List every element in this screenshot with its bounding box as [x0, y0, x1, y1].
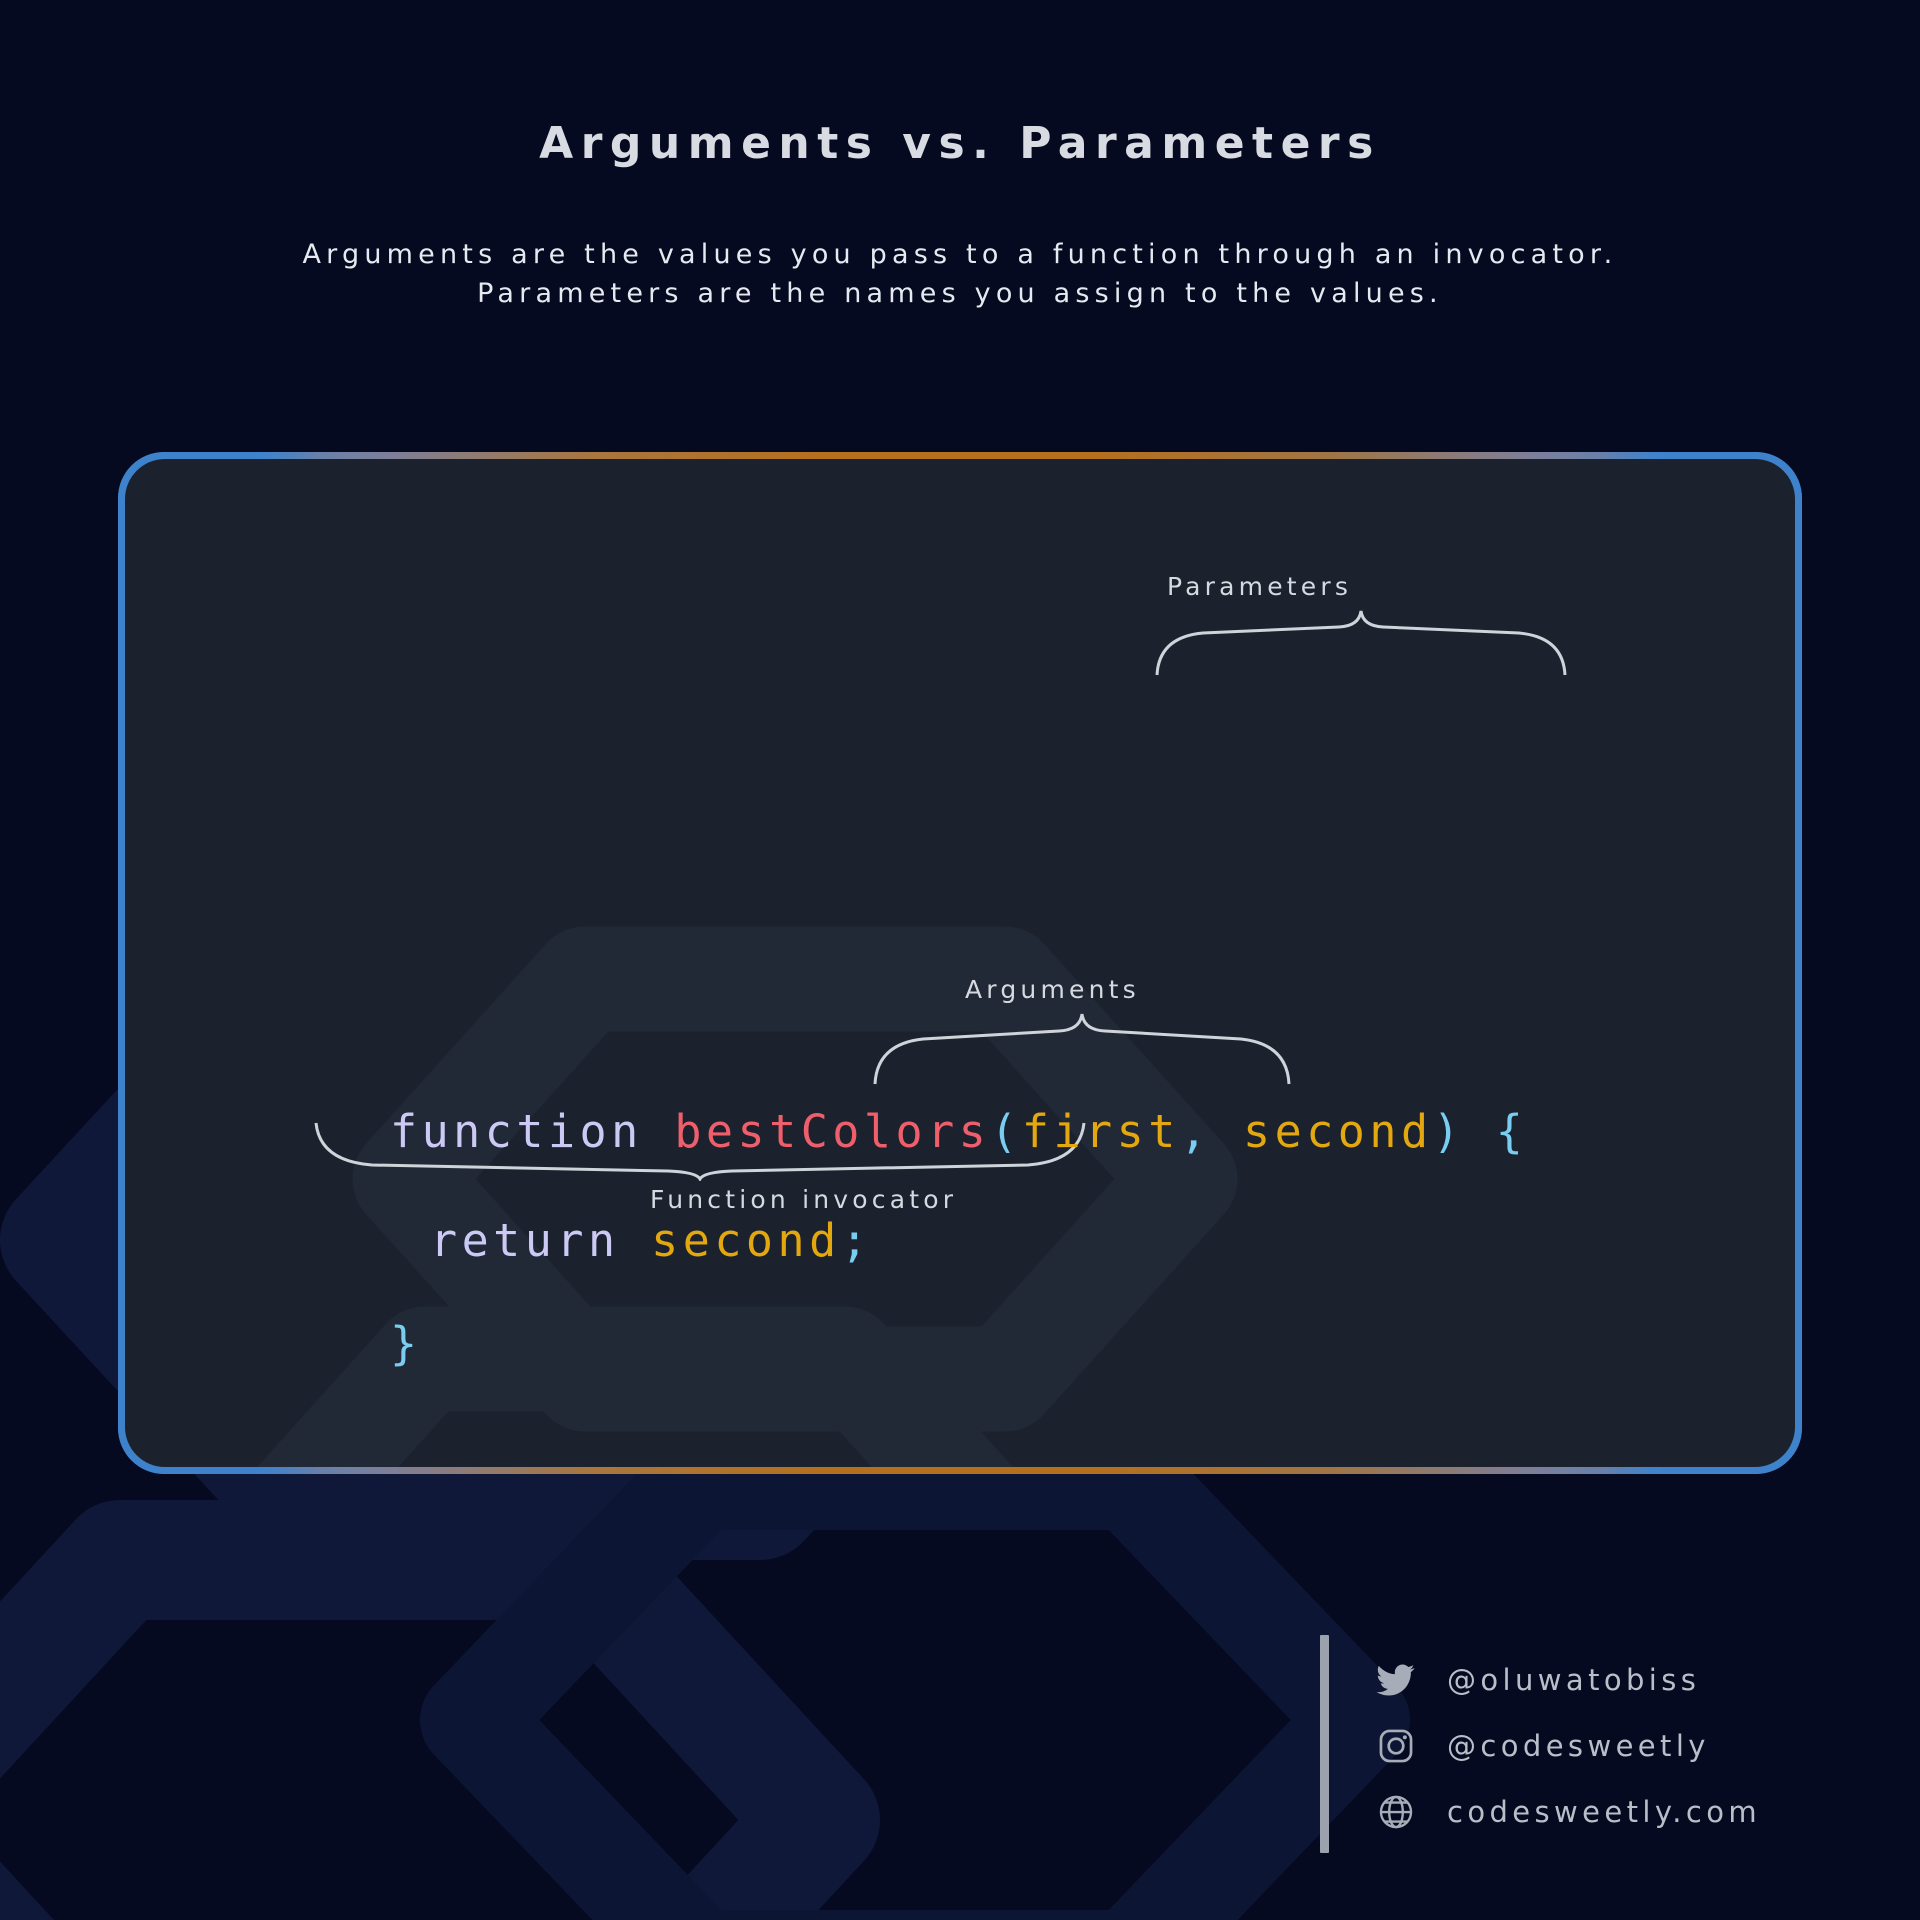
page-title: Arguments vs. Parameters — [0, 118, 1920, 171]
code-line-function-declaration: function bestColors(first, second) { — [390, 1105, 1527, 1158]
token-open-paren: ( — [990, 1105, 1022, 1158]
code-block: function bestColors(first, second) { ret… — [125, 459, 1795, 1467]
token-keyword-return: return — [430, 1214, 651, 1267]
subtitle-line-1: Arguments are the values you pass to a f… — [210, 235, 1710, 274]
code-card-body: Parameters Arguments Function invocator … — [125, 459, 1795, 1467]
footer-row-instagram[interactable]: @codesweetly — [1373, 1713, 1761, 1779]
social-footer: @oluwatobiss @codesweetly — [1320, 1635, 1761, 1853]
token-close-paren: ) — [1433, 1105, 1465, 1158]
footer-text-twitter: @oluwatobiss — [1447, 1663, 1700, 1697]
twitter-icon — [1373, 1657, 1419, 1703]
token-comma: , — [1180, 1105, 1243, 1158]
infographic-canvas: Arguments vs. Parameters Arguments are t… — [0, 0, 1920, 1920]
code-line-return: return second; — [430, 1214, 872, 1267]
token-parameter-first: first — [1022, 1105, 1180, 1158]
footer-row-twitter[interactable]: @oluwatobiss — [1373, 1647, 1761, 1713]
token-return-value: second — [651, 1214, 841, 1267]
footer-divider-bar — [1320, 1635, 1329, 1853]
code-card: Parameters Arguments Function invocator … — [118, 452, 1802, 1474]
footer-text-website: codesweetly.com — [1447, 1795, 1761, 1829]
token-keyword-function: function — [390, 1105, 674, 1158]
footer-row-website[interactable]: codesweetly.com — [1373, 1779, 1761, 1845]
token-close-brace: } — [390, 1317, 422, 1370]
token-semicolon: ; — [841, 1214, 873, 1267]
instagram-icon — [1373, 1723, 1419, 1769]
token-parameter-second: second — [1243, 1105, 1433, 1158]
token-function-name: bestColors — [674, 1105, 990, 1158]
code-line-close-brace: } — [390, 1317, 422, 1370]
globe-icon — [1373, 1789, 1419, 1835]
token-open-brace: { — [1464, 1105, 1527, 1158]
footer-links-list: @oluwatobiss @codesweetly — [1373, 1635, 1761, 1853]
page-subtitle: Arguments are the values you pass to a f… — [210, 235, 1710, 313]
header-block: Arguments vs. Parameters Arguments are t… — [0, 118, 1920, 313]
footer-text-instagram: @codesweetly — [1447, 1729, 1710, 1763]
subtitle-line-2: Parameters are the names you assign to t… — [210, 274, 1710, 313]
